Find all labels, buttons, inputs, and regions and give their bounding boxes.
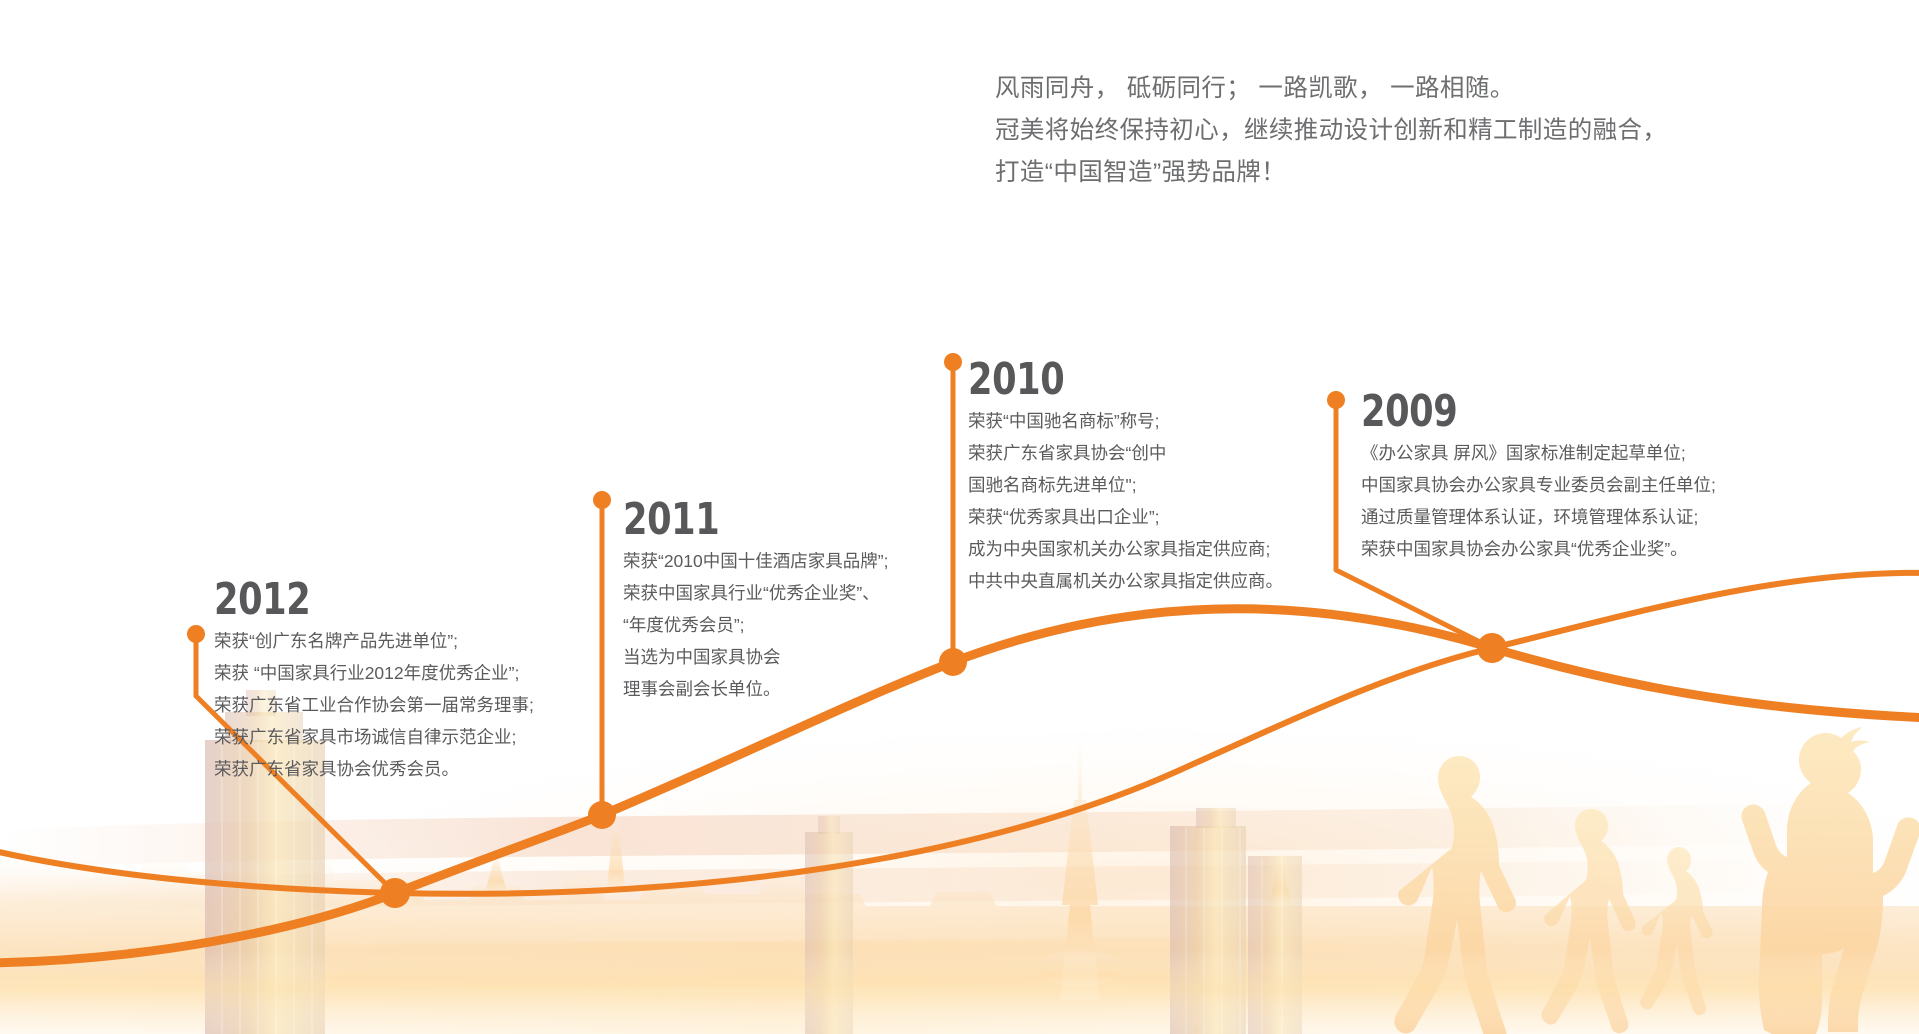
list-item: 理事会副会长单位。 bbox=[623, 673, 888, 705]
node-2011[interactable] bbox=[588, 801, 616, 829]
milestone-2011: 2011 荣获“2010中国十佳酒店家具品牌”; 荣获中国家具行业“优秀企业奖”… bbox=[623, 498, 888, 705]
list-item: 通过质量管理体系认证，环境管理体系认证; bbox=[1361, 501, 1716, 533]
node-2012[interactable] bbox=[380, 878, 410, 908]
list-item: 荣获“中国驰名商标”称号; bbox=[968, 405, 1283, 437]
milestone-year-2012: 2012 bbox=[214, 578, 470, 622]
node-2009[interactable] bbox=[1477, 633, 1507, 663]
list-item: 荣获中国家具行业“优秀企业奖”、 bbox=[623, 577, 888, 609]
headline-line-2: 冠美将始终保持初心，继续推动设计创新和精工制造的融合， bbox=[995, 110, 1785, 152]
list-item: 中共中央直属机关办公家具指定供应商。 bbox=[968, 565, 1283, 597]
milestone-year-2010: 2010 bbox=[968, 358, 1220, 402]
list-item: 荣获“优秀家具出口企业”; bbox=[968, 501, 1283, 533]
milestone-year-2011: 2011 bbox=[623, 498, 835, 542]
list-item: 《办公家具 屏风》国家标准制定起草单位; bbox=[1361, 437, 1716, 469]
headline-line-1: 风雨同舟， 砥砺同行； 一路凯歌， 一路相随。 bbox=[995, 68, 1785, 110]
milestone-body-2011: 荣获“2010中国十佳酒店家具品牌”; 荣获中国家具行业“优秀企业奖”、 “年度… bbox=[623, 545, 888, 705]
list-item: 当选为中国家具协会 bbox=[623, 641, 888, 673]
milestone-body-2012: 荣获“创广东名牌产品先进单位”; 荣获 “中国家具行业2012年度优秀企业”; … bbox=[214, 625, 534, 785]
list-item: “年度优秀会员”; bbox=[623, 609, 888, 641]
list-item: 荣获广东省家具协会“创中 bbox=[968, 437, 1283, 469]
list-item: 荣获“2010中国十佳酒店家具品牌”; bbox=[623, 545, 888, 577]
headline-line-3: 打造“中国智造”强势品牌！ bbox=[995, 152, 1785, 194]
milestone-2009: 2009 《办公家具 屏风》国家标准制定起草单位; 中国家具协会办公家具专业委员… bbox=[1361, 390, 1716, 565]
list-item: 荣获广东省工业合作协会第一届常务理事; bbox=[214, 689, 534, 721]
lead-dot-2011[interactable] bbox=[593, 491, 611, 509]
headline-block: 风雨同舟， 砥砺同行； 一路凯歌， 一路相随。 冠美将始终保持初心，继续推动设计… bbox=[995, 68, 1785, 194]
lead-dot-2012[interactable] bbox=[187, 625, 205, 643]
list-item: 荣获广东省家具市场诚信自律示范企业; bbox=[214, 721, 534, 753]
milestone-2010: 2010 荣获“中国驰名商标”称号; 荣获广东省家具协会“创中 国驰名商标先进单… bbox=[968, 358, 1283, 597]
list-item: 国驰名商标先进单位"; bbox=[968, 469, 1283, 501]
milestone-body-2009: 《办公家具 屏风》国家标准制定起草单位; 中国家具协会办公家具专业委员会副主任单… bbox=[1361, 437, 1716, 565]
node-2010[interactable] bbox=[939, 648, 967, 676]
list-item: 荣获 “中国家具行业2012年度优秀企业”; bbox=[214, 657, 534, 689]
lead-dot-2010[interactable] bbox=[944, 353, 962, 371]
milestone-year-2009: 2009 bbox=[1361, 390, 1645, 434]
milestone-body-2010: 荣获“中国驰名商标”称号; 荣获广东省家具协会“创中 国驰名商标先进单位"; 荣… bbox=[968, 405, 1283, 597]
milestone-2012: 2012 荣获“创广东名牌产品先进单位”; 荣获 “中国家具行业2012年度优秀… bbox=[214, 578, 534, 785]
list-item: 荣获中国家具协会办公家具“优秀企业奖”。 bbox=[1361, 533, 1716, 565]
timeline-infographic: 风雨同舟， 砥砺同行； 一路凯歌， 一路相随。 冠美将始终保持初心，继续推动设计… bbox=[0, 0, 1919, 1034]
list-item: 成为中央国家机关办公家具指定供应商; bbox=[968, 533, 1283, 565]
lead-dot-2009[interactable] bbox=[1327, 391, 1345, 409]
list-item: 荣获广东省家具协会优秀会员。 bbox=[214, 753, 534, 785]
list-item: 荣获“创广东名牌产品先进单位”; bbox=[214, 625, 534, 657]
list-item: 中国家具协会办公家具专业委员会副主任单位; bbox=[1361, 469, 1716, 501]
